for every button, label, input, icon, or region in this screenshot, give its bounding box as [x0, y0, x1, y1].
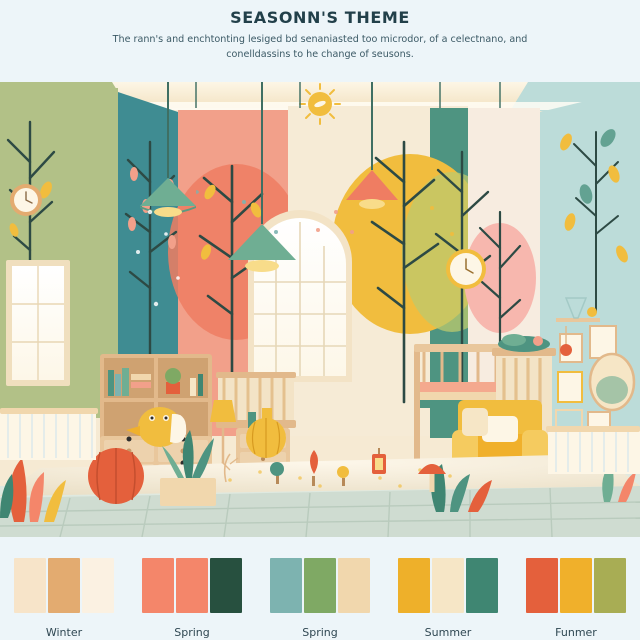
palette-chip[interactable]	[432, 558, 464, 613]
poster-root: SEASONN'S THEME The rann's and enchtonti…	[0, 0, 640, 640]
palette-chip[interactable]	[48, 558, 80, 613]
palette-chips	[142, 558, 242, 613]
sun-motif	[300, 84, 340, 124]
palette-label: Summer	[425, 626, 472, 639]
palette-label: Spring	[302, 626, 338, 639]
palette-chip[interactable]	[14, 558, 46, 613]
palette-chip[interactable]	[142, 558, 174, 613]
palette-chip[interactable]	[270, 558, 302, 613]
palette-group-funmer: Funmer	[512, 545, 640, 639]
palette-chips	[14, 558, 114, 613]
room-illustration	[0, 82, 640, 537]
palette-chips	[526, 558, 626, 613]
palette-group-winter: Winter	[0, 545, 128, 639]
palette-chip[interactable]	[210, 558, 242, 613]
palette-group-summer: Summer	[384, 545, 512, 639]
palette-chip[interactable]	[304, 558, 336, 613]
railing-right	[546, 426, 640, 474]
page-title: SEASONN'S THEME	[230, 8, 410, 27]
wall-clock-left	[10, 184, 42, 216]
palette-group-spring-2: Spring	[256, 545, 384, 639]
header: SEASONN'S THEME The rann's and enchtonti…	[0, 0, 640, 82]
pumpkin-orange-right	[246, 418, 286, 458]
palette-label: Spring	[174, 626, 210, 639]
palette-chip[interactable]	[398, 558, 430, 613]
palette-chip[interactable]	[526, 558, 558, 613]
palette-strip: Winter Spring Spring Summe	[0, 545, 640, 640]
page-subtitle: The rann's and enchtonting lesiged bd se…	[85, 33, 555, 63]
side-window	[6, 260, 70, 386]
palette-chip[interactable]	[82, 558, 114, 613]
pumpkin-red	[88, 448, 144, 504]
palette-chips	[398, 558, 498, 613]
railing-left	[0, 408, 98, 460]
palette-chip[interactable]	[176, 558, 208, 613]
palette-chip[interactable]	[594, 558, 626, 613]
palette-label: Winter	[46, 626, 82, 639]
palette-chip[interactable]	[338, 558, 370, 613]
palette-chip[interactable]	[560, 558, 592, 613]
palette-label: Funmer	[555, 626, 597, 639]
palette-chips	[270, 558, 370, 613]
palette-chip[interactable]	[466, 558, 498, 613]
palette-group-spring-1: Spring	[128, 545, 256, 639]
wall-clock-right	[446, 249, 486, 289]
